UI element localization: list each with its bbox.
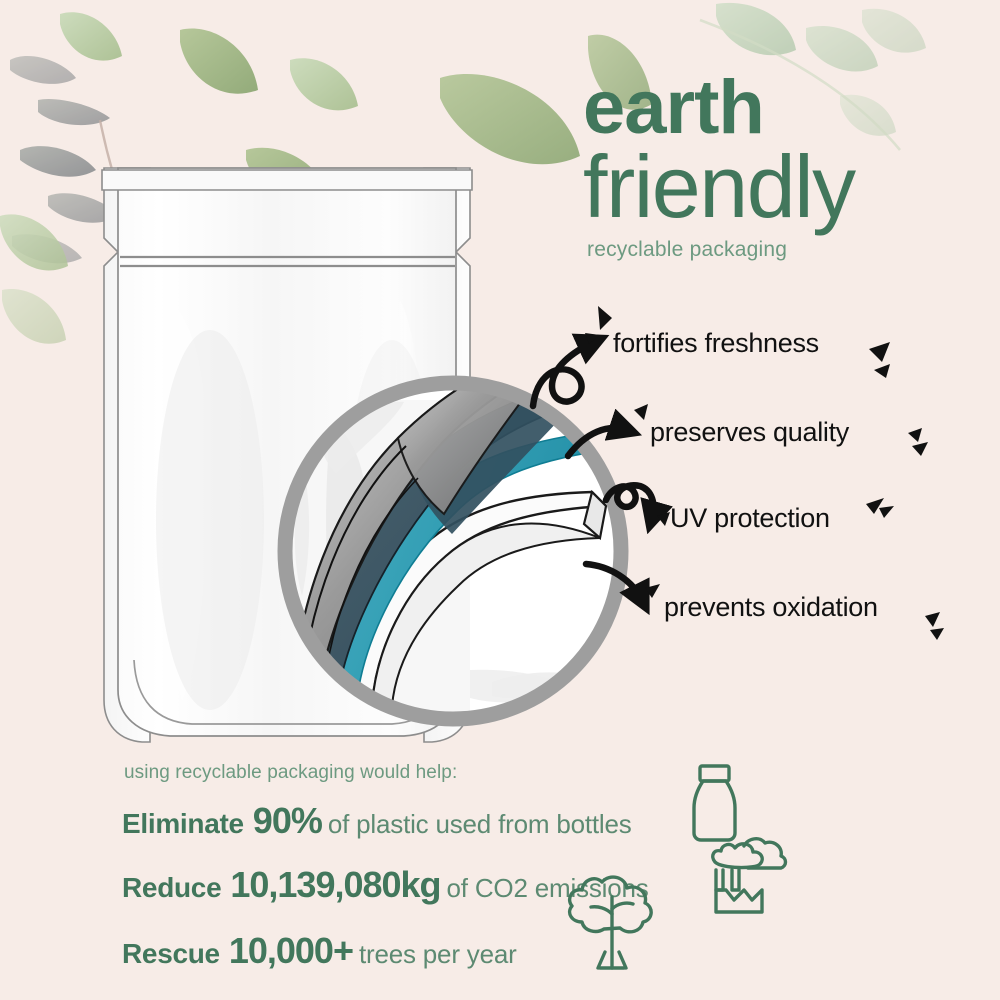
stat-icons-layer (0, 0, 1000, 1000)
factory-smoke-icon (713, 839, 786, 912)
tree-icon (570, 877, 652, 968)
bottle-icon (694, 766, 735, 840)
poster-canvas: earth friendly recyclable packaging fort… (0, 0, 1000, 1000)
